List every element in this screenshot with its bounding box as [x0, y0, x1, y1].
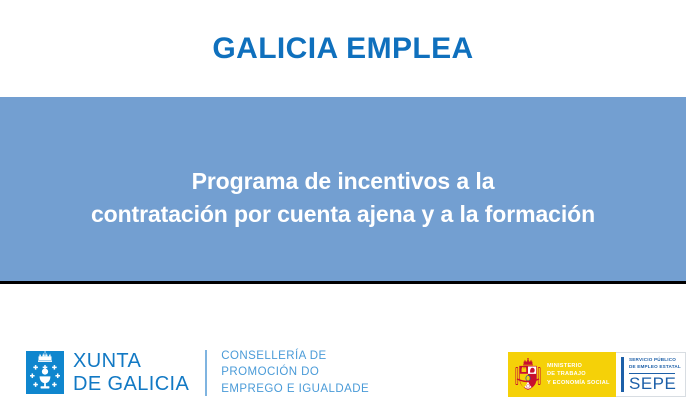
xunta-wordmark: XUNTA DE GALICIA [73, 350, 189, 395]
page-header: GALICIA EMPLEA [0, 0, 686, 97]
sepe-subtitle-line-2: DE EMPLEO ESTATAL [629, 364, 681, 371]
program-banner: Programa de incentivos a la contratación… [0, 97, 686, 281]
xunta-wordmark-line-2: DE GALICIA [73, 373, 189, 395]
logo-vertical-divider [205, 350, 207, 396]
conselleria-line-2: PROMOCIÓN DO [221, 364, 369, 380]
footer-logos: XUNTA DE GALICIA CONSELLERÍA DE PROMOCIÓ… [0, 284, 686, 410]
ministerio-de-trabajo-logo: MINISTERIO DE TRABAJO Y ECONOMÍA SOCIAL [508, 352, 616, 397]
banner-text-line-2: contratación por cuenta ajena y a la for… [91, 198, 595, 231]
government-logos: MINISTERIO DE TRABAJO Y ECONOMÍA SOCIAL … [508, 352, 686, 397]
xunta-wordmark-line-1: XUNTA [73, 350, 189, 372]
sepe-subtitle-line-1: SERVICIO PÚBLICO [629, 357, 681, 364]
ministerio-line-1: MINISTERIO [547, 362, 610, 371]
sepe-accent-bar [621, 357, 624, 392]
conselleria-line-3: EMPREGO E IGUALDADE [221, 381, 369, 397]
xunta-coat-of-arms-icon [26, 351, 64, 394]
sepe-wordmark: SEPE [629, 375, 681, 392]
sepe-subtitle: SERVICIO PÚBLICO DE EMPLEO ESTATAL [629, 357, 681, 371]
sepe-logo: SERVICIO PÚBLICO DE EMPLEO ESTATAL SEPE [616, 352, 686, 397]
spain-coat-of-arms-icon [514, 358, 542, 392]
xunta-de-galicia-logo: XUNTA DE GALICIA CONSELLERÍA DE PROMOCIÓ… [26, 348, 369, 397]
ministerio-line-2: DE TRABAJO [547, 370, 610, 379]
ministerio-text: MINISTERIO DE TRABAJO Y ECONOMÍA SOCIAL [547, 362, 610, 388]
banner-text-line-1: Programa de incentivos a la [91, 165, 595, 198]
ministerio-line-3: Y ECONOMÍA SOCIAL [547, 379, 610, 388]
page-title: GALICIA EMPLEA [212, 34, 473, 64]
banner-text: Programa de incentivos a la contratación… [77, 165, 609, 230]
conselleria-text: CONSELLERÍA DE PROMOCIÓN DO EMPREGO E IG… [221, 348, 369, 397]
conselleria-line-1: CONSELLERÍA DE [221, 348, 369, 364]
